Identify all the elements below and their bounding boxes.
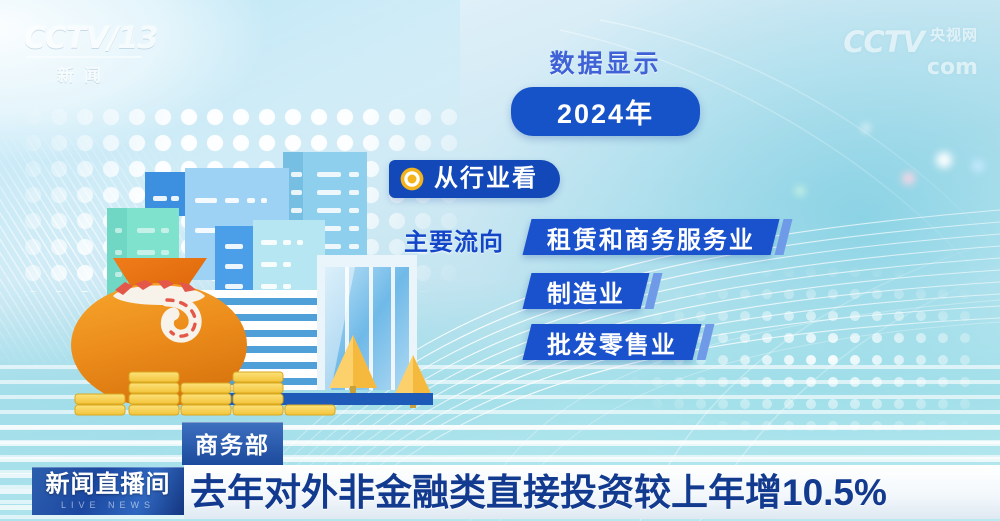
bokeh-dot-5 — [862, 124, 870, 132]
watermark-main: CCTV — [843, 28, 924, 57]
bokeh-dot-4 — [795, 186, 805, 196]
flow-banner-3-label: 批发零售业 — [547, 325, 677, 360]
cctv13-logo-number: 13 — [118, 21, 158, 56]
headline-text: 去年对外非金融类直接投资较上年增10.5% — [184, 474, 887, 511]
news-graphic-stage: CCTV/13 新闻 CCTV 央视网 com 数据显示 2024年 从行业看 … — [0, 0, 1000, 521]
watermark-cn: 央视网 — [930, 28, 978, 43]
year-pill: 2024年 — [511, 87, 700, 136]
program-badge: 新闻直播间 LIVE NEWS — [32, 467, 184, 515]
bokeh-dot-2 — [972, 160, 984, 172]
data-kicker: 数据显示 — [468, 44, 743, 80]
flow-banner-1: 租赁和商务服务业 — [523, 219, 780, 255]
flow-banner-1-label: 租赁和商务服务业 — [547, 220, 755, 255]
cctv13-logo-main: CCTV — [24, 21, 108, 56]
cctv13-logo-sub: 新闻 — [24, 61, 144, 86]
program-name-cn: 新闻直播间 — [46, 473, 171, 497]
cctv13-logo-rule — [26, 56, 142, 58]
illustration-money-bag-city — [55, 150, 475, 425]
headline-bar: 去年对外非金融类直接投资较上年增10.5% — [184, 465, 1000, 519]
flow-banner-2-label: 制造业 — [547, 274, 625, 309]
bokeh-dot-3 — [902, 172, 915, 185]
program-name-en: LIVE NEWS — [61, 501, 155, 510]
flow-banner-3: 批发零售业 — [523, 324, 702, 360]
source-tag: 商务部 — [182, 422, 283, 465]
cctv-com-watermark: CCTV 央视网 com — [843, 28, 978, 79]
data-header: 数据显示 2024年 — [468, 44, 743, 136]
cctv13-logo: CCTV/13 新闻 — [24, 24, 144, 82]
flow-banner-2: 制造业 — [523, 273, 650, 309]
bokeh-dot-1 — [936, 152, 952, 168]
watermark-domain: com — [833, 57, 978, 79]
